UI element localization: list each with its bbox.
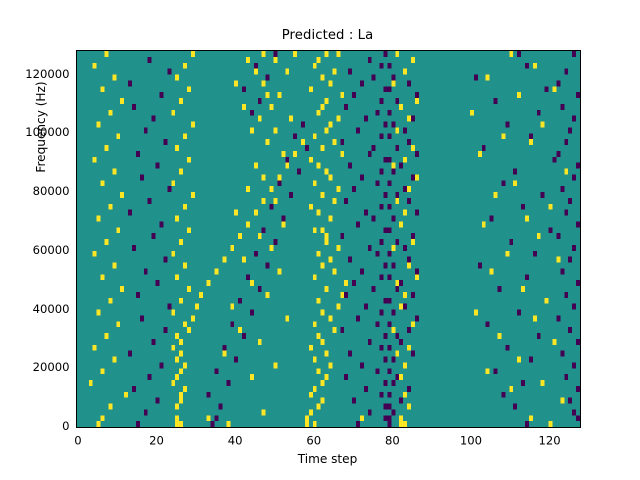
x-tick-label: 80 <box>385 434 400 448</box>
y-tick-mark <box>76 133 77 134</box>
figure-canvas: Predicted : La 0200004000060000800001000… <box>0 0 640 480</box>
y-tick-label: 20000 <box>33 360 70 374</box>
y-tick-mark <box>76 75 77 76</box>
heatmap-image <box>77 51 580 427</box>
x-tick-label: 40 <box>228 434 243 448</box>
y-tick-mark <box>76 251 77 252</box>
x-tick-label: 60 <box>306 434 321 448</box>
heatmap-axes <box>76 50 581 428</box>
x-tick-label: 0 <box>74 434 81 448</box>
x-tick-label: 20 <box>149 434 164 448</box>
x-axis-label: Time step <box>76 452 579 466</box>
x-tick-label: 100 <box>460 434 482 448</box>
y-tick-label: 40000 <box>33 302 70 316</box>
y-axis-label: Frequency (Hz) <box>34 7 48 247</box>
y-tick-mark <box>76 368 77 369</box>
chart-title: Predicted : La <box>76 28 579 43</box>
y-tick-mark <box>76 310 77 311</box>
heatmap-pixels <box>77 51 580 427</box>
y-tick-label: 0 <box>62 419 69 433</box>
x-axis-ticks: 020406080100120 <box>76 428 579 450</box>
x-tick-label: 120 <box>538 434 560 448</box>
y-tick-mark <box>76 192 77 193</box>
